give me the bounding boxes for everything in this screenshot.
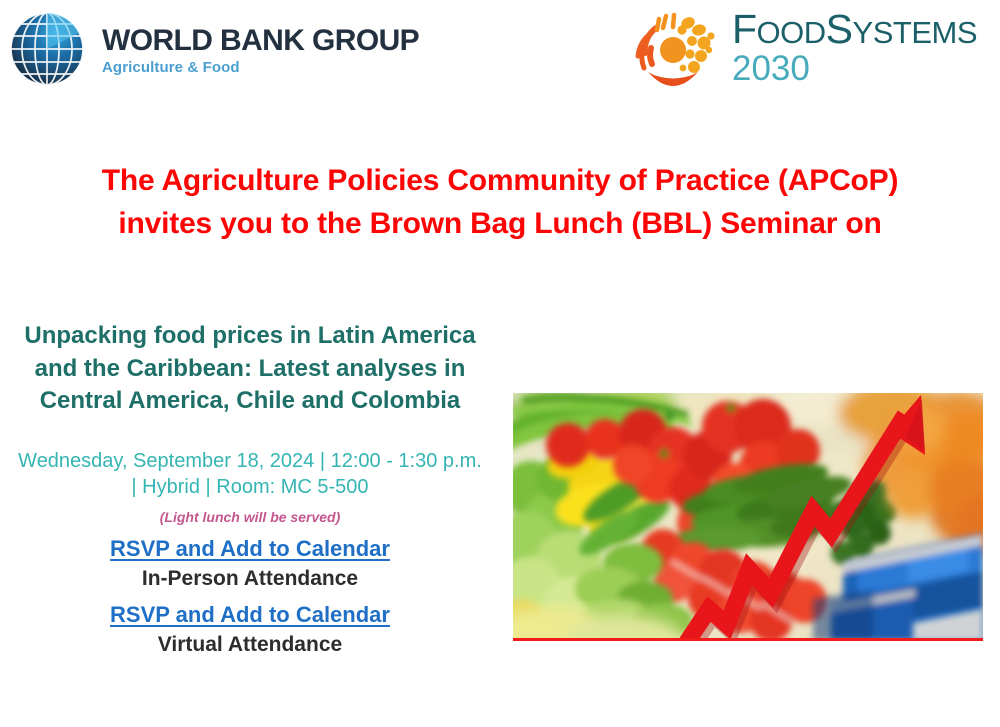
world-bank-wordmark: WORLD BANK GROUP Agriculture & Food (102, 22, 419, 77)
rsvp-virtual-link[interactable]: RSVP and Add to Calendar (110, 602, 390, 628)
headline-line-2: invites you to the Brown Bag Lunch (BBL)… (0, 203, 1000, 246)
world-bank-title: WORLD BANK GROUP (102, 26, 419, 57)
foodsystems-sun-bowl-icon (628, 8, 718, 98)
foodsystems-name-s: S (826, 6, 853, 52)
seminar-title: Unpacking food prices in Latin America a… (0, 320, 500, 418)
lunch-note: (Light lunch will be served) (0, 509, 500, 525)
event-info-column: Unpacking food prices in Latin America a… (0, 320, 500, 657)
foodsystems-2030-logo: FOODSYSTEMS 2030 (628, 6, 977, 98)
foodsystems-name-ystems: YSTEMS (853, 15, 977, 50)
world-bank-group-logo: WORLD BANK GROUP Agriculture & Food (6, 8, 419, 90)
foodsystems-name: FOODSYSTEMS (732, 10, 977, 50)
foodsystems-year: 2030 (732, 51, 977, 86)
in-person-attendance-label: In-Person Attendance (0, 567, 500, 591)
flyer-page: { "header": { "world_bank": { "logo_icon… (0, 0, 1000, 727)
produce-market-photo-frame (513, 393, 983, 641)
event-details: Wednesday, September 18, 2024 | 12:00 - … (0, 448, 500, 500)
produce-market-rising-price-arrow-image (513, 393, 983, 638)
world-bank-subtitle: Agriculture & Food (102, 59, 419, 76)
rsvp-virtual-block: RSVP and Add to Calendar Virtual Attenda… (0, 591, 500, 657)
rsvp-in-person-block: RSVP and Add to Calendar In-Person Atten… (0, 525, 500, 591)
rsvp-in-person-link[interactable]: RSVP and Add to Calendar (110, 536, 390, 562)
foodsystems-wordmark: FOODSYSTEMS 2030 (732, 6, 977, 86)
logo-bar: WORLD BANK GROUP Agriculture & Food (0, 0, 1000, 110)
virtual-attendance-label: Virtual Attendance (0, 633, 500, 657)
foodsystems-name-f: F (732, 6, 757, 52)
headline: The Agriculture Policies Community of Pr… (0, 160, 1000, 245)
foodsystems-name-ood: OOD (757, 15, 826, 50)
headline-line-1: The Agriculture Policies Community of Pr… (0, 160, 1000, 203)
world-bank-globe-icon (6, 8, 88, 90)
